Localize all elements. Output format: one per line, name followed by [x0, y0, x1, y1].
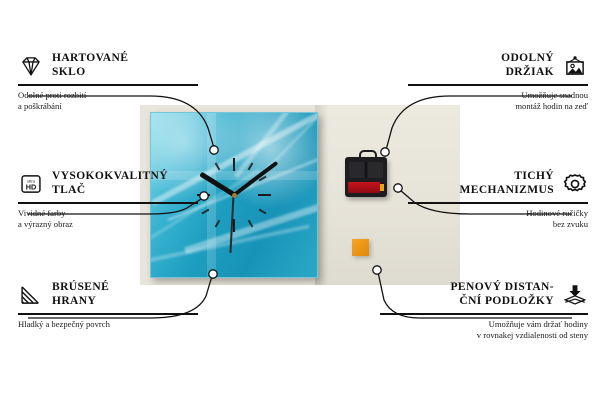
feature-title-line1: BRÚSENÉ: [52, 281, 109, 295]
arrow-onto-pad-icon: [562, 283, 588, 307]
feature-title-line1: ODOLNÝ: [501, 52, 554, 66]
foam-spacer-pad: [352, 239, 369, 256]
feature-polished-edges: BRÚSENÉ HRANY Hladký a bezpečný povrch: [18, 281, 198, 330]
feature-title-line1: VYSOKOKVALITNÝ: [52, 170, 168, 184]
feature-title-line2: MECHANIZMUS: [459, 184, 554, 198]
feature-title: BRÚSENÉ HRANY: [52, 281, 109, 308]
feature-sub-line1: Hladký a bezpečný povrch: [18, 319, 198, 331]
feature-divider: [18, 202, 198, 204]
ultra-hd-badge-icon: ultra HD: [18, 172, 44, 196]
feature-header: TICHÝ MECHANIZMUS: [408, 170, 588, 197]
gear-icon: [562, 172, 588, 196]
feature-sub-line2: montáž hodin na zeď: [408, 101, 588, 113]
feature-divider: [408, 84, 588, 86]
feature-title: HARTOVANÉ SKLO: [52, 52, 128, 79]
feature-tempered-glass: HARTOVANÉ SKLO Odolné proti rozbití a po…: [18, 52, 198, 113]
feature-divider: [380, 313, 588, 315]
feature-title-line2: SKLO: [52, 66, 128, 80]
mechanism-housing: [349, 162, 383, 178]
feature-sub-line1: Hodinové ručičky: [408, 208, 588, 220]
feature-title-line2: ČNÍ PODLOŽKY: [451, 295, 555, 309]
feature-subtitle: Hodinové ručičky bez zvuku: [408, 208, 588, 231]
feature-sub-line1: Vividné farby: [18, 208, 198, 220]
infographic-canvas: HARTOVANÉ SKLO Odolné proti rozbití a po…: [0, 0, 600, 400]
feature-title: TICHÝ MECHANIZMUS: [459, 170, 554, 197]
feature-title-line1: PENOVÝ DISTAN-: [451, 281, 555, 295]
feature-subtitle: Hladký a bezpečný povrch: [18, 319, 198, 331]
feature-silent-mechanism: TICHÝ MECHANIZMUS Hodinové ručičky bez z…: [408, 170, 588, 231]
feature-header: BRÚSENÉ HRANY: [18, 281, 198, 308]
feature-title-line2: DRŽIAK: [501, 66, 554, 80]
mechanism-hanger-hook: [359, 150, 377, 161]
feature-hd-print: ultra HD VYSOKOKVALITNÝ TLAČ Vividné far…: [18, 170, 198, 231]
svg-text:HD: HD: [26, 182, 37, 191]
feature-divider: [18, 313, 198, 315]
feature-header: ultra HD VYSOKOKVALITNÝ TLAČ: [18, 170, 198, 197]
feature-title: VYSOKOKVALITNÝ TLAČ: [52, 170, 168, 197]
feature-sub-line1: Umožňuje vám držať hodiny: [380, 319, 588, 331]
clock-center-cap: [232, 193, 237, 198]
feature-sub-line2: v rovnakej vzdialenosti od steny: [380, 330, 588, 342]
feature-header: PENOVÝ DISTAN- ČNÍ PODLOŽKY: [380, 281, 588, 308]
feature-subtitle: Odolné proti rozbití a poškrábání: [18, 90, 198, 113]
feature-divider: [18, 84, 198, 86]
feature-sub-line2: a výrazný obraz: [18, 219, 198, 231]
feature-header: ODOLNÝ DRŽIAK: [408, 52, 588, 79]
feature-title: ODOLNÝ DRŽIAK: [501, 52, 554, 79]
clock-mechanism: [345, 157, 387, 197]
feature-sub-line2: a poškrábání: [18, 101, 198, 113]
diamond-icon: [18, 54, 44, 78]
feature-sub-line2: bez zvuku: [408, 219, 588, 231]
feature-subtitle: Umožňuje snadnou montáž hodin na zeď: [408, 90, 588, 113]
feature-title-line1: HARTOVANÉ: [52, 52, 128, 66]
feature-subtitle: Vividné farby a výrazný obraz: [18, 208, 198, 231]
feature-title-line2: HRANY: [52, 295, 109, 309]
framed-picture-hanger-icon: [562, 54, 588, 78]
feature-title-line1: TICHÝ: [459, 170, 554, 184]
feature-title-line2: TLAČ: [52, 184, 168, 198]
feature-durable-holder: ODOLNÝ DRŽIAK Umožňuje snadnou montáž ho…: [408, 52, 588, 113]
feature-title: PENOVÝ DISTAN- ČNÍ PODLOŽKY: [451, 281, 555, 308]
feature-sub-line1: Umožňuje snadnou: [408, 90, 588, 102]
feature-subtitle: Umožňuje vám držať hodiny v rovnakej vzd…: [380, 319, 588, 342]
feature-header: HARTOVANÉ SKLO: [18, 52, 198, 79]
feature-sub-line1: Odolné proti rozbití: [18, 90, 198, 102]
feature-foam-spacers: PENOVÝ DISTAN- ČNÍ PODLOŽKY Umožňuje vám…: [380, 281, 588, 342]
diagonal-lines-icon: [18, 283, 44, 307]
battery: [348, 182, 380, 193]
feature-divider: [408, 202, 588, 204]
